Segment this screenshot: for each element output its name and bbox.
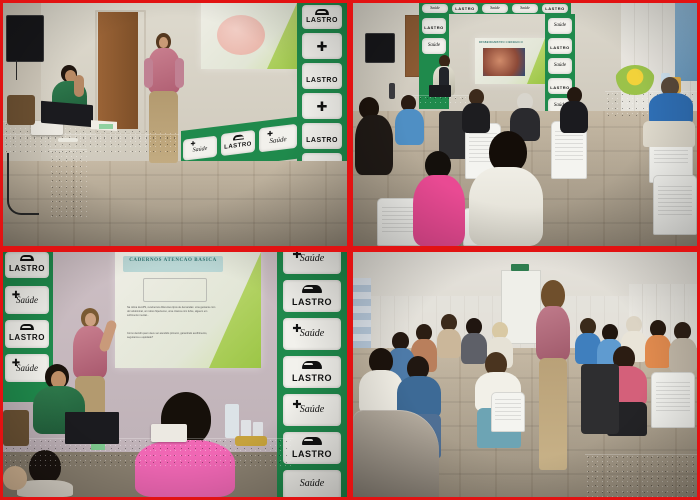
door-frame xyxy=(95,10,146,135)
person-front-edge xyxy=(3,466,29,497)
person-torso xyxy=(536,306,570,360)
banner-tile: Saúde xyxy=(422,38,446,54)
banner-tile: LASTRO xyxy=(5,320,49,348)
window-curtain xyxy=(675,3,697,81)
slide-title: CADERNOS ATENCAO BASICA xyxy=(123,258,223,264)
exit-sign xyxy=(511,264,529,271)
slide-bullet-2: Como decidir quem deve ser atendido prim… xyxy=(127,332,217,340)
projection-screen-top-left xyxy=(201,3,297,69)
green-paper xyxy=(99,124,113,129)
person-circle xyxy=(669,322,697,372)
person-torso xyxy=(413,175,465,246)
banner-tile: Saúde ✚ xyxy=(259,124,297,153)
slide-title: DESBRIDAMENTO CIRURGICO xyxy=(479,41,541,44)
banner-tile: Saúde xyxy=(548,58,572,74)
person-head xyxy=(3,466,27,490)
laptop xyxy=(65,412,119,444)
granite-table-front xyxy=(3,134,179,152)
chair-plastic xyxy=(653,175,697,235)
person-audience xyxy=(461,89,491,133)
slide-diagram xyxy=(143,278,207,302)
photo-top-left: LASTRO ✚ LASTRO ✚ LASTRO ✚ xyxy=(3,3,347,246)
banner-tile: LASTRO xyxy=(302,63,342,89)
chair-plastic xyxy=(491,392,525,432)
person-face xyxy=(85,313,96,326)
slide-photo xyxy=(483,48,525,76)
person-facilitator xyxy=(535,280,571,470)
banner-tile: Saúde xyxy=(548,18,572,34)
person-audience-front xyxy=(411,151,467,246)
tv-monitor xyxy=(365,33,395,63)
person-audience-front xyxy=(463,131,549,246)
person-audience xyxy=(559,87,589,133)
tv-monitor xyxy=(6,15,44,62)
banner-tile: Saúde xyxy=(512,4,538,13)
banner-tile: LASTRO xyxy=(542,4,568,13)
person-audience-right xyxy=(641,77,697,147)
green-paper xyxy=(91,444,105,450)
person-audience xyxy=(355,97,395,177)
handbag xyxy=(7,95,35,125)
banner-tile: LASTRO xyxy=(5,252,49,278)
tray xyxy=(235,436,267,446)
slide-bullet-1: Na rotina da APS, recebemos diferentes t… xyxy=(127,306,217,317)
person-face xyxy=(159,37,168,48)
slide-green-wedge xyxy=(267,3,297,69)
slide-pink-blob xyxy=(217,15,265,55)
person-arm-left xyxy=(144,58,153,88)
banner-tile: LASTRO xyxy=(302,5,342,29)
photo-top-right: DESBRIDAMENTO CIRURGICO Saúde LASTRO Saú… xyxy=(353,3,697,246)
banner-tile: ✚ xyxy=(302,33,342,59)
banner-tile: LASTRO xyxy=(452,4,478,13)
banner-tile: Saúde ✚ xyxy=(183,136,217,161)
person-torso xyxy=(355,115,393,175)
banner-tile: LASTRO xyxy=(302,123,342,149)
person-torso xyxy=(560,101,588,133)
banner-tile: Saúde✚ xyxy=(5,286,49,314)
handbag xyxy=(3,410,29,446)
power-cable xyxy=(7,153,39,215)
banner-tile: Saúde xyxy=(482,4,508,13)
photo-bottom-left: LASTRO Saúde✚ LASTRO Saúde✚ Saúde✚ LASTR… xyxy=(3,252,347,497)
tv-cable xyxy=(16,60,17,80)
photo-panel-bottom-left[interactable]: LASTRO Saúde✚ LASTRO Saúde✚ Saúde✚ LASTR… xyxy=(3,252,347,497)
laptop xyxy=(41,101,93,128)
person-circle xyxy=(437,314,461,358)
chair-plastic xyxy=(651,372,695,428)
banner-tile: Saúde✚ xyxy=(283,318,341,350)
projection-screen-top-right: DESBRIDAMENTO CIRURGICO xyxy=(475,38,545,84)
banner-tile: LASTRO xyxy=(283,280,341,312)
person-trousers xyxy=(539,358,567,470)
banner-tile: Saúde✚ xyxy=(283,252,341,274)
person-trousers xyxy=(149,91,178,163)
banner-tile: Saúde xyxy=(283,470,341,497)
person-torso xyxy=(395,109,424,145)
photo-panel-top-right[interactable]: DESBRIDAMENTO CIRURGICO Saúde LASTRO Saú… xyxy=(353,3,697,246)
photo-bottom-right xyxy=(353,252,697,497)
banner-tile: Saúde xyxy=(422,4,448,13)
person-torso xyxy=(669,338,697,372)
banner-tile: Saúde✚ xyxy=(283,394,341,426)
chair-dark xyxy=(581,364,619,434)
banner-tile: LASTRO xyxy=(283,356,341,388)
photo-collage: LASTRO ✚ LASTRO ✚ LASTRO ✚ xyxy=(0,0,700,500)
granite-counter xyxy=(353,410,439,497)
slide-green-wedge xyxy=(527,38,545,84)
projection-screen-bottom-left: CADERNOS ATENCAO BASICA Na rotina da APS… xyxy=(115,252,261,368)
projector xyxy=(151,424,187,442)
banner-top-strip: Saúde LASTRO Saúde Saúde LASTRO xyxy=(419,3,571,14)
granite-bench xyxy=(585,454,697,497)
person-torso xyxy=(462,103,490,133)
person-torso xyxy=(437,329,461,358)
banner-tile: ✚ xyxy=(302,93,342,119)
person-arm xyxy=(74,75,84,97)
granite-table-leg xyxy=(49,149,87,221)
person-torso xyxy=(469,167,543,246)
laptop xyxy=(429,85,451,97)
person-arm-right xyxy=(175,58,184,88)
person-audience xyxy=(395,95,425,145)
banner-tile: LASTRO xyxy=(422,18,446,34)
water-pitcher xyxy=(225,404,239,438)
remote-control xyxy=(58,138,78,142)
person-legs xyxy=(643,121,695,147)
banner-tile: LASTRO xyxy=(548,38,572,54)
photo-panel-bottom-right[interactable] xyxy=(353,252,697,497)
photo-panel-top-left[interactable]: LASTRO ✚ LASTRO ✚ LASTRO ✚ xyxy=(3,3,347,246)
